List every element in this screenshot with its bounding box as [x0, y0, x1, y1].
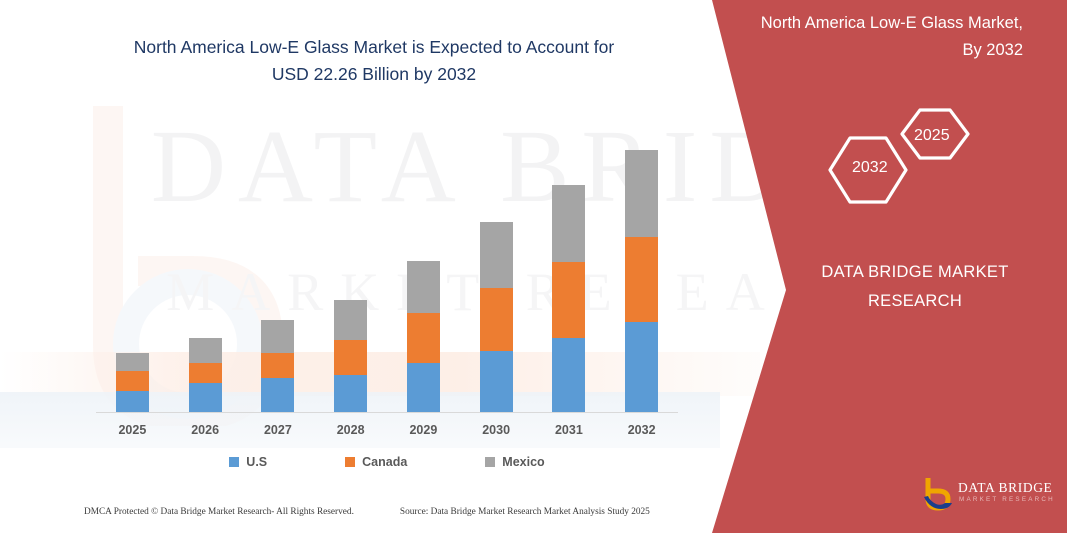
logo-name: DATA BRIDGE [958, 480, 1052, 496]
panel-title-line-2: By 2032 [723, 37, 1023, 64]
infographic-canvas: DATA BRIDGE MARKET RESEARCH North Americ… [0, 0, 1067, 533]
hexagon-shapes [828, 100, 1008, 210]
panel-brand-line-2: RESEARCH [790, 287, 1040, 316]
panel-brand-name: DATA BRIDGE MARKET RESEARCH [790, 258, 1040, 316]
panel-brand-line-1: DATA BRIDGE MARKET [790, 258, 1040, 287]
hexagon-2025-label: 2025 [914, 127, 950, 145]
data-bridge-logo: DATA BRIDGE MARKET RESEARCH [922, 478, 1058, 516]
panel-title-line-1: North America Low-E Glass Market, [723, 10, 1023, 37]
logo-tagline: MARKET RESEARCH [959, 496, 1055, 503]
hexagon-2032-label: 2032 [852, 159, 888, 177]
data-bridge-mark-icon [922, 478, 956, 512]
right-panel-content: North America Low-E Glass Market, By 203… [0, 0, 1067, 533]
panel-title: North America Low-E Glass Market, By 203… [723, 10, 1023, 64]
hexagon-group: 2032 2025 [828, 100, 1008, 210]
